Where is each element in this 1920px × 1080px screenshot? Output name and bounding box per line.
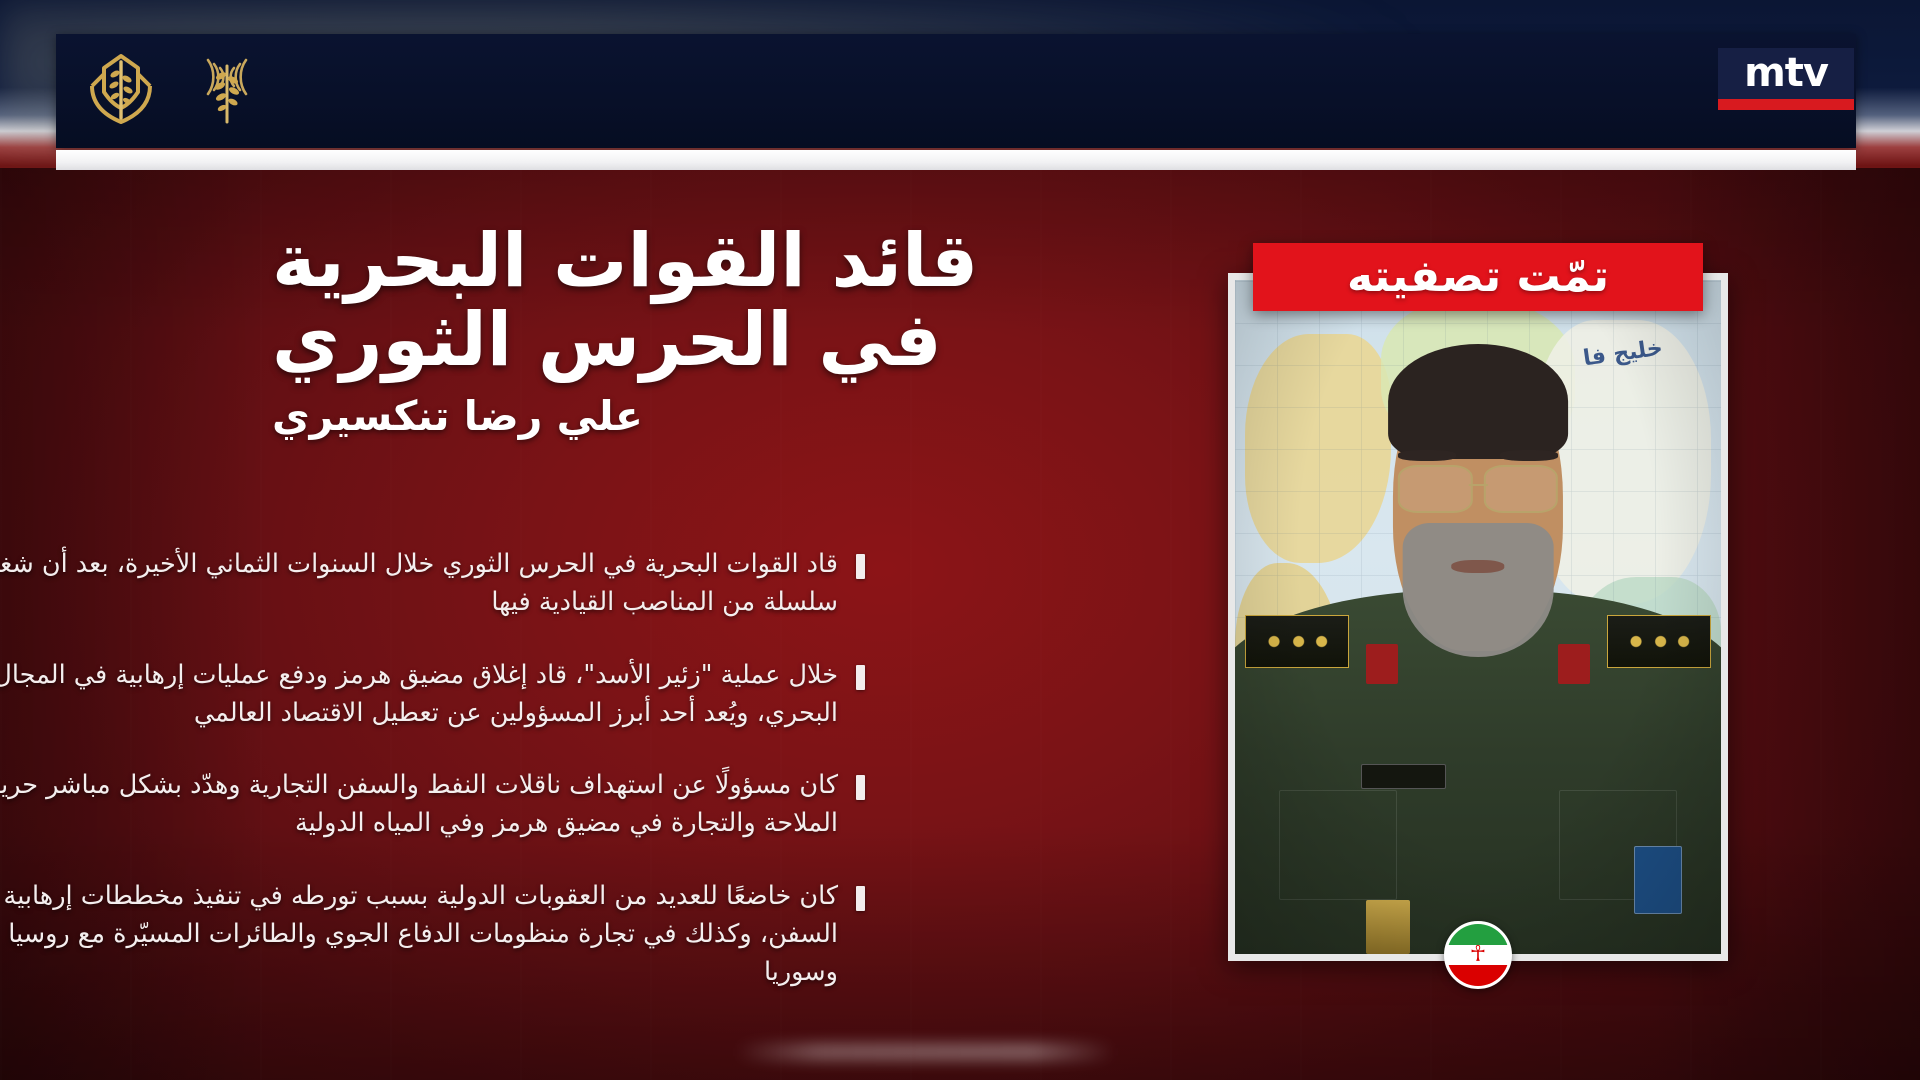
- uniform-buckle: [1366, 900, 1410, 954]
- bullet-marker-icon: [856, 886, 865, 911]
- mtv-logo-red-bar: [1718, 99, 1854, 110]
- collar-tab-left: [1366, 644, 1398, 684]
- mtv-logo-text: mtv: [1718, 48, 1854, 99]
- irgc-sleeve-patch: [1634, 846, 1683, 913]
- bullet-text: قاد القوات البحرية في الحرس الثوري خلال …: [0, 545, 838, 622]
- mouth: [1451, 560, 1504, 573]
- glasses-bridge: [1468, 484, 1487, 486]
- lens-left: [1398, 465, 1473, 513]
- shoulder-board-left: [1245, 615, 1349, 668]
- list-item: خلال عملية "زئير الأسد"، قاد إغلاق مضيق …: [0, 656, 865, 733]
- header-panel: [56, 34, 1856, 148]
- news-graphic-stage: mtv قائد القوات البحرية في الحرس الثوري …: [0, 0, 1920, 1080]
- eyebrow-left: [1398, 450, 1456, 461]
- bullet-marker-icon: [856, 665, 865, 690]
- idf-spokesperson-radio-emblem: [190, 50, 264, 132]
- list-item: قاد القوات البحرية في الحرس الثوري خلال …: [0, 545, 865, 622]
- status-badge: تمّت تصفيته: [1253, 243, 1703, 311]
- hair: [1388, 344, 1568, 459]
- beard: [1403, 523, 1554, 658]
- idf-insignia-emblem: [78, 48, 164, 134]
- iran-flag-badge-icon: ☥: [1444, 921, 1512, 989]
- portrait-photo-card: خليج فا: [1228, 273, 1728, 961]
- bullet-text: كان مسؤولًا عن استهداف ناقلات النفط والس…: [0, 766, 838, 843]
- uniform-nametag: [1361, 764, 1446, 789]
- uniform-pocket: [1279, 790, 1398, 900]
- bullet-marker-icon: [856, 554, 865, 579]
- mtv-channel-logo: mtv: [1718, 48, 1854, 110]
- bottom-light-bar: [735, 1043, 1115, 1061]
- bullet-marker-icon: [856, 775, 865, 800]
- header-emblems: [78, 40, 264, 142]
- bullet-text: كان خاضعًا للعديد من العقوبات الدولية بس…: [0, 877, 838, 992]
- list-item: كان مسؤولًا عن استهداف ناقلات النفط والس…: [0, 766, 865, 843]
- shoulder-board-right: [1607, 615, 1711, 668]
- flag-red-band: [1447, 965, 1509, 986]
- headline-block: قائد القوات البحرية في الحرس الثوري علي …: [272, 222, 1062, 439]
- lens-right: [1484, 465, 1559, 513]
- eyeglasses-icon: [1398, 465, 1558, 509]
- subject-figure: [1235, 280, 1721, 954]
- portrait-photo: خليج فا: [1235, 280, 1721, 954]
- header-white-strip: [56, 150, 1856, 170]
- status-badge-label: تمّت تصفيته: [1321, 255, 1635, 299]
- list-item: كان خاضعًا للعديد من العقوبات الدولية بس…: [0, 877, 865, 992]
- person-name: علي رضا تنكسيري: [272, 394, 1062, 439]
- collar-tab-right: [1558, 644, 1590, 684]
- page-title: قائد القوات البحرية في الحرس الثوري: [272, 222, 1062, 380]
- eyebrow-right: [1500, 450, 1558, 461]
- bullet-text: خلال عملية "زئير الأسد"، قاد إغلاق مضيق …: [0, 656, 838, 733]
- flag-emblem-icon: ☥: [1470, 944, 1486, 966]
- bullet-list: قاد القوات البحرية في الحرس الثوري خلال …: [0, 545, 865, 1025]
